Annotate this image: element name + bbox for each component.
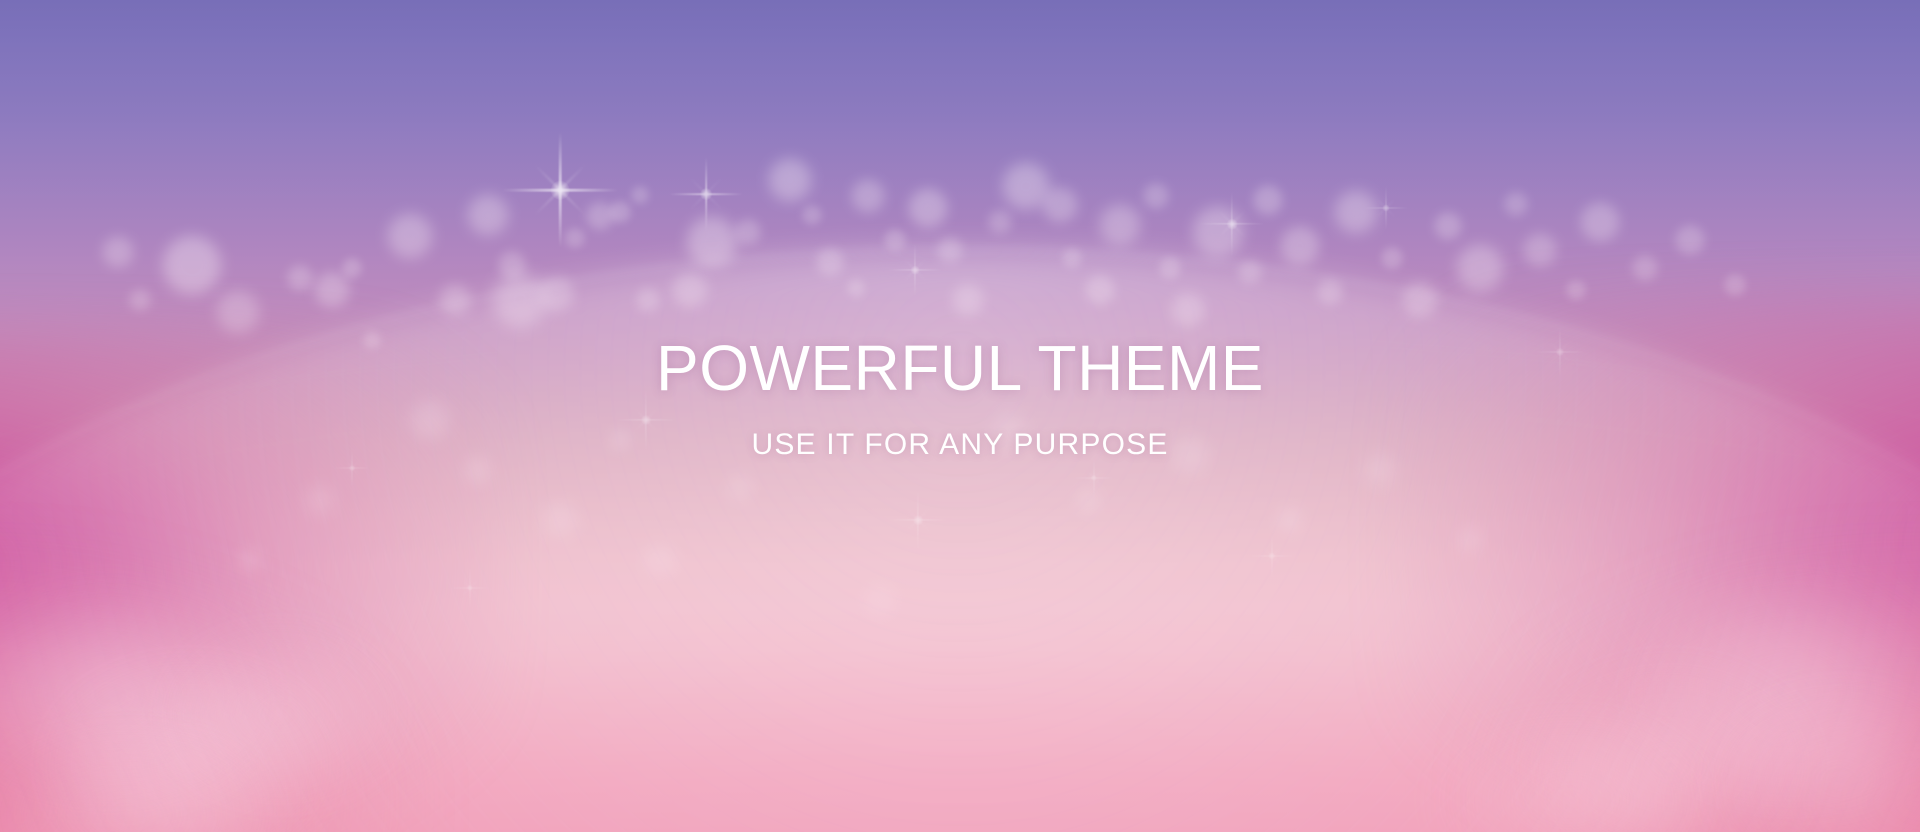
- bokeh-light-circle: [1456, 244, 1504, 292]
- star-sparkle: [888, 490, 948, 550]
- star-sparkle: [669, 157, 743, 231]
- star-sparkle: [1249, 533, 1295, 579]
- bokeh-light-circle: [314, 272, 350, 308]
- bokeh-light-circle: [538, 276, 574, 312]
- bokeh-light-circle: [162, 235, 222, 295]
- sparkle-core: [349, 465, 355, 471]
- bokeh-light-circle: [542, 502, 578, 538]
- bokeh-light-circle: [1457, 527, 1483, 553]
- bokeh-light-circle: [644, 544, 676, 576]
- bokeh-light-circle: [439, 284, 471, 316]
- page-title: POWERFUL THEME: [0, 336, 1920, 401]
- bokeh-light-circle: [727, 475, 753, 501]
- bokeh-light-circle: [988, 210, 1012, 234]
- bokeh-light-circle: [1566, 280, 1586, 300]
- bokeh-light-circle: [305, 485, 335, 515]
- bokeh-light-circle: [387, 213, 433, 259]
- star-sparkle: [1364, 186, 1408, 230]
- bokeh-light-circle: [1280, 226, 1320, 266]
- bokeh-light-circle: [908, 188, 948, 228]
- bokeh-light-circle: [216, 290, 260, 334]
- bokeh-light-circle: [1434, 212, 1462, 240]
- bokeh-light-circle: [287, 265, 313, 291]
- bokeh-light-circle: [847, 279, 865, 297]
- sparkle-core: [551, 181, 570, 200]
- sparkle-core: [911, 266, 920, 275]
- sparkle-core: [700, 188, 712, 200]
- bokeh-light-circle: [636, 288, 660, 312]
- hero-banner: POWERFUL THEME USE IT FOR ANY PURPOSE: [0, 0, 1920, 832]
- bokeh-light-circle: [1317, 279, 1343, 305]
- bokeh-light-circle: [1099, 204, 1141, 246]
- bokeh-light-circle: [1042, 187, 1078, 223]
- star-sparkle: [1199, 191, 1265, 257]
- bokeh-light-circle: [865, 585, 895, 615]
- hero-content: POWERFUL THEME USE IT FOR ANY PURPOSE: [0, 336, 1920, 461]
- sparkle-core: [1382, 204, 1389, 211]
- bokeh-light-circle: [1276, 506, 1304, 534]
- bokeh-light-circle: [129, 289, 151, 311]
- bokeh-light-circle: [1171, 293, 1205, 327]
- bokeh-light-circle: [102, 236, 134, 268]
- bokeh-light-circle: [952, 284, 984, 316]
- bokeh-light-circle: [802, 205, 822, 225]
- bokeh-light-circle: [342, 258, 362, 278]
- bokeh-light-circle: [851, 179, 885, 213]
- star-sparkle: [502, 132, 618, 248]
- bokeh-light-circle: [1523, 233, 1557, 267]
- bokeh-light-circle: [1402, 282, 1438, 318]
- star-sparkle: [450, 568, 490, 608]
- star-sparkle: [888, 243, 942, 297]
- bokeh-light-circle: [238, 548, 262, 572]
- bokeh-light-circle: [1580, 202, 1620, 242]
- bokeh-light-circle: [1381, 247, 1403, 269]
- bokeh-light-circle: [1675, 225, 1705, 255]
- bokeh-light-circle: [1632, 255, 1658, 281]
- bokeh-light-circle: [1504, 192, 1528, 216]
- sparkle-core: [913, 515, 923, 525]
- bokeh-light-circle: [816, 248, 844, 276]
- bokeh-light-circle: [1062, 248, 1082, 268]
- bokeh-light-circle: [631, 186, 649, 204]
- bokeh-light-circle: [1159, 257, 1181, 279]
- star-sparkle: [1074, 458, 1114, 498]
- bokeh-light-circle: [768, 158, 812, 202]
- bokeh-light-circle: [1724, 274, 1746, 296]
- bokeh-light-circle: [1085, 275, 1115, 305]
- bokeh-light-circle: [1143, 183, 1169, 209]
- page-subtitle: USE IT FOR ANY PURPOSE: [0, 428, 1920, 461]
- bokeh-light-circle: [1238, 260, 1262, 284]
- sparkle-core: [1227, 219, 1238, 230]
- bokeh-light-circle: [672, 272, 708, 308]
